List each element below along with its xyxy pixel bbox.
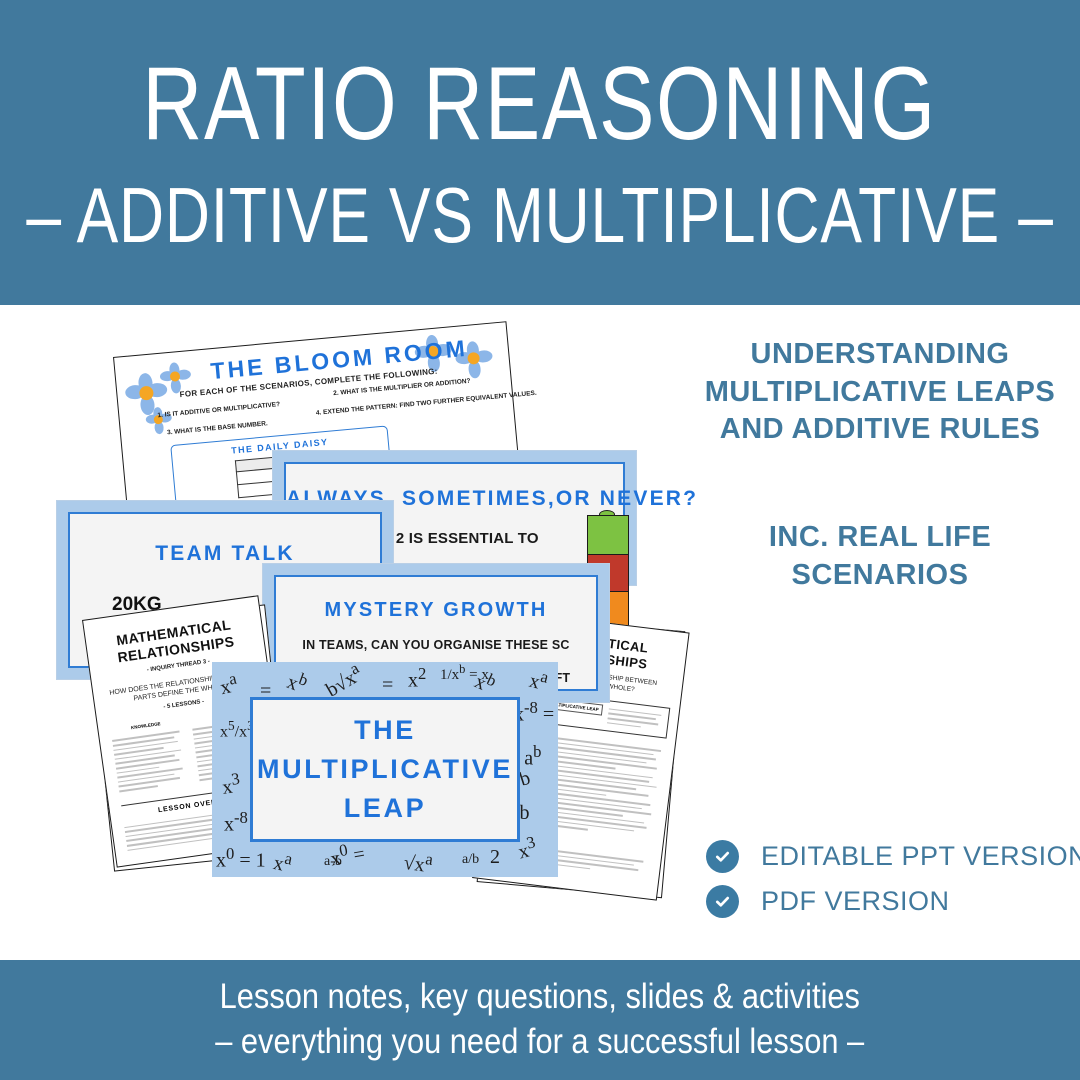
format-badge-ppt: EDITABLE PPT VERSION [706, 840, 1076, 873]
feature-heading: UNDERSTANDING MULTIPLICATIVE LEAPS AND A… [700, 336, 1060, 449]
header-banner: RATIO REASONING – ADDITIVE VS MULTIPLICA… [0, 0, 1080, 305]
footer-line-1: Lesson notes, key questions, slides & ac… [220, 975, 860, 1020]
leap-title-line2: LEAP [253, 789, 517, 828]
format-badge-pdf: PDF VERSION [706, 885, 1076, 918]
page-subtitle: – ADDITIVE VS MULTIPLICATIVE – [26, 176, 1053, 254]
feature-text-column: UNDERSTANDING MULTIPLICATIVE LEAPS AND A… [700, 336, 1060, 594]
check-circle-icon [706, 885, 739, 918]
notes-left-knowledge-text [112, 728, 190, 795]
page-title: RATIO REASONING [143, 52, 937, 156]
product-mockup-stage: THE BLOOM ROOM FOR EACH OF THE SCENARIOS… [0, 305, 700, 955]
format-badge-list: EDITABLE PPT VERSION PDF VERSION [706, 840, 1076, 930]
format-badge-ppt-label: EDITABLE PPT VERSION [761, 841, 1080, 872]
leap-title-line1: THE MULTIPLICATIVE [253, 711, 517, 789]
feature-subheading: INC. REAL LIFE SCENARIOS [700, 519, 1060, 594]
mystery-growth-body-line1: IN TEAMS, CAN YOU ORGANISE THESE SC [276, 636, 596, 655]
mystery-growth-title: MYSTERY GROWTH [276, 599, 596, 622]
footer-line-2: – everything you need for a successful l… [216, 1020, 865, 1065]
format-badge-pdf-label: PDF VERSION [761, 886, 950, 917]
mockup-multiplicative-leap-slide: xa = xb b√xa = x2 1/xb = x xa x5/x3 = x-… [212, 662, 558, 877]
daisy-cluster-left-icon [123, 357, 219, 437]
check-circle-icon [706, 840, 739, 873]
footer-banner: Lesson notes, key questions, slides & ac… [0, 960, 1080, 1080]
notes-right-objective-text [607, 705, 664, 733]
